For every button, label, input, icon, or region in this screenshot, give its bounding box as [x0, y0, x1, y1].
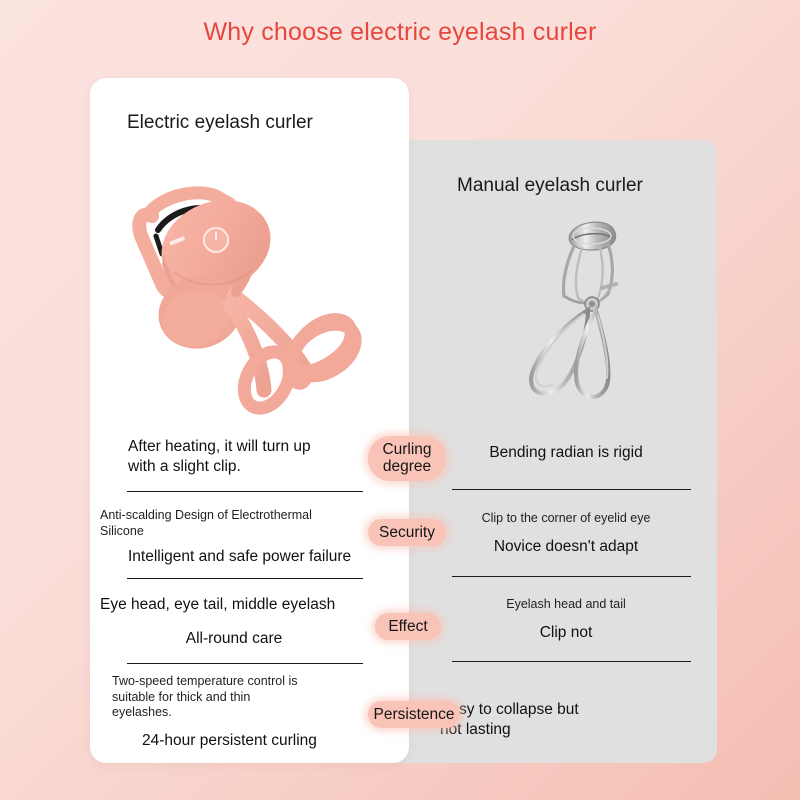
row-left-content: After heating, it will turn up with a sl…: [100, 437, 368, 477]
row-right-small: Clip to the corner of eyelid eye: [430, 511, 702, 527]
page-title: Why choose electric eyelash curler: [0, 18, 800, 47]
electric-eyelash-curler-icon: [112, 168, 397, 423]
row-divider-right: [452, 576, 691, 577]
row-left-content: Two-speed temperature control is suitabl…: [112, 674, 368, 751]
row-left-content: Eye head, eye tail, middle eyelash All-r…: [100, 595, 368, 649]
row-right-large: Novice doesn't adapt: [430, 537, 702, 557]
row-right-small: Eyelash head and tail: [430, 597, 702, 613]
row-left-large: After heating, it will turn up with a sl…: [100, 437, 368, 477]
row-left-small: Two-speed temperature control is suitabl…: [112, 674, 368, 721]
row-left-small: Eye head, eye tail, middle eyelash: [100, 595, 368, 615]
row-right-large: Clip not: [430, 623, 702, 643]
row-right-content: Eyelash head and tail Clip not: [430, 597, 702, 643]
row-right-large: Easy to collapse but not lasting: [430, 700, 702, 740]
row-right-large: Bending radian is rigid: [430, 443, 702, 463]
row-divider-right: [452, 489, 691, 490]
row-divider-left: [127, 578, 363, 579]
row-right-content: Clip to the corner of eyelid eye Novice …: [430, 511, 702, 557]
electric-panel-heading: Electric eyelash curler: [127, 112, 313, 134]
badge-curling-degree[interactable]: Curling degree: [368, 436, 446, 481]
row-right-content: Easy to collapse but not lasting: [430, 700, 702, 740]
row-divider-right: [452, 661, 691, 662]
row-left-large: Intelligent and safe power failure: [100, 547, 368, 567]
row-left-content: Anti-scalding Design of Electrothermal S…: [100, 508, 368, 567]
manual-eyelash-curler-icon: [492, 212, 668, 408]
row-divider-left: [127, 663, 363, 664]
row-left-small: Anti-scalding Design of Electrothermal S…: [100, 508, 368, 539]
row-left-large: 24-hour persistent curling: [112, 731, 368, 751]
row-right-content: Bending radian is rigid: [430, 443, 702, 463]
row-left-large: All-round care: [100, 629, 368, 649]
manual-panel-heading: Manual eyelash curler: [457, 175, 643, 197]
row-divider-left: [127, 491, 363, 492]
badge-persistence[interactable]: Persistence: [368, 701, 460, 728]
badge-effect[interactable]: Effect: [375, 613, 441, 640]
badge-security[interactable]: Security: [368, 519, 446, 546]
